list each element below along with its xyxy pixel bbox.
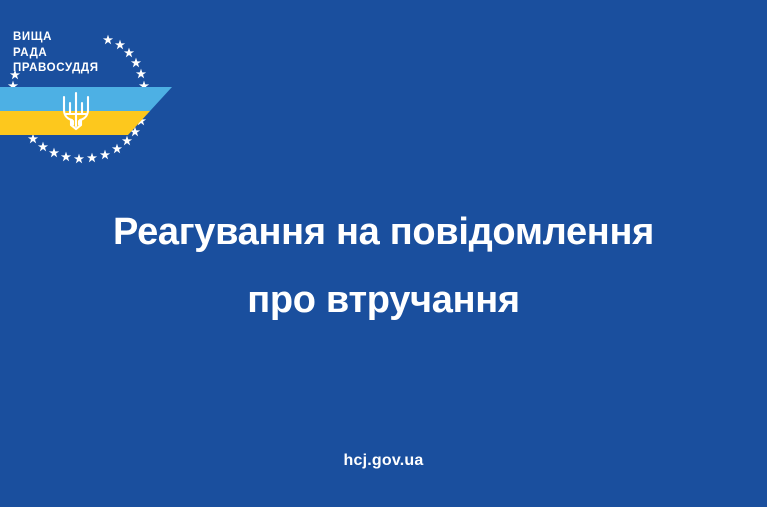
slide-title-line-1: Реагування на повідомлення [0, 198, 767, 266]
logo-wordmark-line-1: ВИЩА [13, 30, 133, 46]
tryzub-icon [61, 90, 91, 134]
logo-wordmark-line-2: РАДА [13, 46, 133, 62]
slide-title-line-2: про втручання [0, 266, 767, 334]
footer-website-url[interactable]: hcj.gov.ua [344, 452, 424, 470]
hcj-logo: ВИЩА РАДА ПРАВОСУДДЯ [0, 20, 200, 195]
footer: hcj.gov.ua [0, 452, 767, 470]
slide-title: Реагування на повідомлення про втручання [0, 198, 767, 334]
logo-wordmark: ВИЩА РАДА ПРАВОСУДДЯ [13, 30, 133, 77]
slide-canvas: ВИЩА РАДА ПРАВОСУДДЯ Реагування на повід… [0, 0, 767, 507]
logo-wordmark-line-3: ПРАВОСУДДЯ [13, 61, 133, 77]
